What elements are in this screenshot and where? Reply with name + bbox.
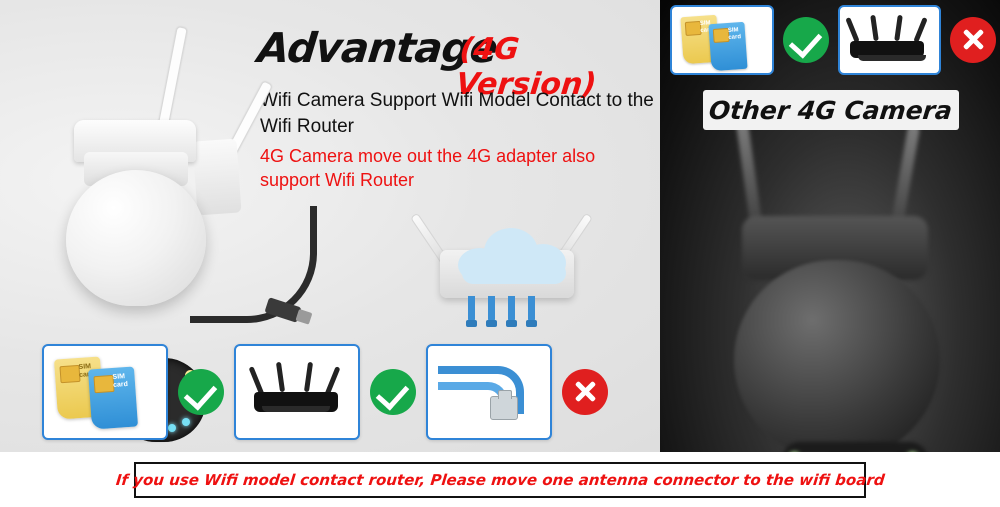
sim-card-label: SIM card: [112, 372, 135, 390]
camera-dome: [734, 260, 940, 452]
check-badge-icon: [178, 369, 224, 415]
ethernet-port-icon: [508, 296, 515, 322]
check-badge-icon: [783, 17, 829, 63]
bottom-banner-box: If you use Wifi model contact router, Pl…: [134, 462, 866, 498]
bottom-banner: If you use Wifi model contact router, Pl…: [0, 452, 1000, 507]
ethernet-port-icon: [468, 296, 475, 322]
sim-card-icon: SIM card: [708, 22, 747, 71]
other-camera-label-text: Other 4G Camera: [708, 96, 954, 125]
cross-badge-icon: [562, 369, 608, 415]
promo-banner: Advantage (4G Version) Wifi Camera Suppo…: [0, 0, 1000, 507]
check-badge-icon: [370, 369, 416, 415]
cross-badge-icon: [950, 17, 996, 63]
router-card: [838, 5, 942, 75]
router-icon: [846, 15, 930, 65]
other-camera-body: [718, 120, 958, 450]
cloud-icon: [458, 226, 568, 282]
other-camera-icon-strip: SIM card SIM card: [670, 5, 996, 75]
left-panel: Advantage (4G Version) Wifi Camera Suppo…: [0, 0, 660, 452]
sim-chip-icon: [93, 375, 114, 393]
ethernet-port-icon: [528, 296, 535, 322]
camera-mount: [192, 139, 241, 216]
title-row: Advantage (4G Version): [258, 24, 658, 72]
router-icon: [248, 362, 344, 420]
description-black: Wifi Camera Support Wifi Model Contact t…: [260, 88, 660, 139]
wifi-router-photo: [418, 196, 628, 346]
sim-card-label: SIM card: [728, 27, 746, 42]
wifi-camera-photo: [40, 20, 270, 340]
lan-cable-icon: [438, 360, 538, 424]
other-camera-label: Other 4G Camera: [703, 90, 959, 130]
bottom-banner-text: If you use Wifi model contact router, Pl…: [115, 471, 886, 489]
description-red: 4G Camera move out the 4G adapter also s…: [260, 144, 640, 193]
camera-dome: [66, 170, 206, 306]
sim-chip-icon: [59, 365, 80, 383]
ethernet-port-icon: [488, 296, 495, 322]
sim-cards-card: SIM card SIM card: [42, 344, 168, 440]
sim-card-icon: SIM card: [88, 366, 138, 429]
router-card: [234, 344, 360, 440]
lan-cable-card: [426, 344, 552, 440]
camera-lens-plate: [782, 442, 928, 452]
sim-cards-card: SIM card SIM card: [670, 5, 774, 75]
compatibility-icon-strip: SIM card SIM card: [42, 344, 638, 440]
